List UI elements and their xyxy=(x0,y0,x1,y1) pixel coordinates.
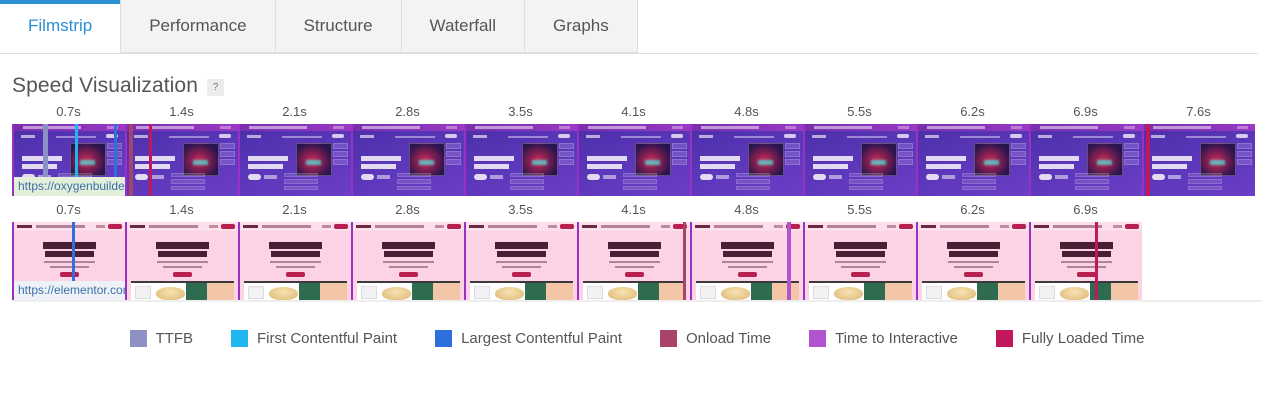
timeline-label: 6.9s xyxy=(1029,202,1142,217)
filmstrip-list: 0.7s1.4s2.1s2.8s3.5s4.1s4.8s5.5s6.2s6.9s… xyxy=(0,98,1274,300)
filmstrip-url-label[interactable]: https://elementor.com/ xyxy=(14,281,125,300)
metric-marker-onload xyxy=(683,222,686,300)
legend-item: TTFB xyxy=(130,330,194,347)
thumbnail-oxygenbuilder xyxy=(1031,124,1142,196)
legend-item: Onload Time xyxy=(660,330,771,347)
legend-label: Largest Contentful Paint xyxy=(461,330,622,347)
thumbnail-elementor xyxy=(805,222,916,300)
filmstrip-frame[interactable] xyxy=(916,222,1029,300)
timeline-label: 6.2s xyxy=(916,202,1029,217)
timeline-label: 1.4s xyxy=(125,104,238,119)
filmstrip-frame[interactable] xyxy=(238,124,351,196)
filmstrip-frame[interactable] xyxy=(125,222,238,300)
timeline-label: 2.8s xyxy=(351,104,464,119)
timeline-label: 4.8s xyxy=(690,104,803,119)
timeline-label: 6.2s xyxy=(916,104,1029,119)
legend-item: Largest Contentful Paint xyxy=(435,330,622,347)
timeline-label: 2.1s xyxy=(238,104,351,119)
thumbnail-oxygenbuilder xyxy=(692,124,803,196)
thumbnail-elementor xyxy=(579,222,690,300)
legend-label: Onload Time xyxy=(686,330,771,347)
tab-graphs[interactable]: Graphs xyxy=(525,0,638,53)
thumbnail-oxygenbuilder xyxy=(353,124,464,196)
filmstrip-frame[interactable] xyxy=(803,222,916,300)
thumbnail-oxygenbuilder xyxy=(127,124,238,196)
timeline-label: 7.6s xyxy=(1142,104,1255,119)
legend-swatch-fcp xyxy=(231,330,248,347)
legend-swatch-onload xyxy=(660,330,677,347)
timeline-labels: 0.7s1.4s2.1s2.8s3.5s4.1s4.8s5.5s6.2s6.9s… xyxy=(12,98,1274,124)
legend-label: Time to Interactive xyxy=(835,330,958,347)
timeline-label: 4.1s xyxy=(577,104,690,119)
legend-item: Fully Loaded Time xyxy=(996,330,1145,347)
timeline-label: 6.9s xyxy=(1029,104,1142,119)
help-icon[interactable]: ? xyxy=(207,79,224,96)
section-header: Speed Visualization ? xyxy=(0,54,1274,98)
thumbnail-elementor xyxy=(240,222,351,300)
tab-filmstrip-label: Filmstrip xyxy=(28,16,92,36)
tab-waterfall-label: Waterfall xyxy=(430,16,496,36)
thumbnail-oxygenbuilder xyxy=(579,124,690,196)
thumbnail-oxygenbuilder xyxy=(805,124,916,196)
tab-waterfall[interactable]: Waterfall xyxy=(402,0,525,53)
legend-label: Fully Loaded Time xyxy=(1022,330,1145,347)
page-title: Speed Visualization xyxy=(12,74,198,98)
tab-graphs-label: Graphs xyxy=(553,16,609,36)
timeline-label: 4.8s xyxy=(690,202,803,217)
filmstrip-frame[interactable] xyxy=(916,124,1029,196)
tab-performance[interactable]: Performance xyxy=(121,0,275,53)
filmstrip-frame[interactable] xyxy=(690,222,803,300)
filmstrip-frame[interactable]: https://oxygenbuilder... xyxy=(12,124,125,196)
metric-marker-fully-loaded xyxy=(149,124,152,196)
thumbnail-elementor xyxy=(353,222,464,300)
filmstrip-frame[interactable] xyxy=(125,124,238,196)
timeline-labels: 0.7s1.4s2.1s2.8s3.5s4.1s4.8s5.5s6.2s6.9s xyxy=(12,196,1274,222)
filmstrip-frame[interactable] xyxy=(1029,222,1142,300)
timeline-label: 2.1s xyxy=(238,202,351,217)
timeline-label: 1.4s xyxy=(125,202,238,217)
thumbnail-oxygenbuilder xyxy=(1144,124,1255,196)
filmstrip-oxygen: 0.7s1.4s2.1s2.8s3.5s4.1s4.8s5.5s6.2s6.9s… xyxy=(0,98,1274,196)
legend-item: Time to Interactive xyxy=(809,330,958,347)
timeline-label: 3.5s xyxy=(464,104,577,119)
legend-swatch-lcp xyxy=(435,330,452,347)
thumbnail-elementor xyxy=(692,222,803,300)
metric-marker-fully-loaded xyxy=(1146,124,1150,196)
legend-swatch-ttfb xyxy=(130,330,147,347)
metric-marker-fully-loaded xyxy=(1095,222,1098,300)
tab-structure-label: Structure xyxy=(304,16,373,36)
tab-filmstrip[interactable]: Filmstrip xyxy=(0,0,121,53)
legend: TTFBFirst Contentful PaintLargest Conten… xyxy=(0,302,1274,360)
filmstrip-frame[interactable]: https://elementor.com/ xyxy=(12,222,125,300)
thumbnail-oxygenbuilder xyxy=(918,124,1029,196)
legend-item: First Contentful Paint xyxy=(231,330,397,347)
filmstrip-frame[interactable] xyxy=(803,124,916,196)
filmstrip-frames: https://elementor.com/ xyxy=(12,222,1274,300)
legend-label: TTFB xyxy=(156,330,194,347)
filmstrip-frame[interactable] xyxy=(464,124,577,196)
filmstrip-frame[interactable] xyxy=(577,222,690,300)
legend-swatch-tti xyxy=(809,330,826,347)
filmstrip-elementor: 0.7s1.4s2.1s2.8s3.5s4.1s4.8s5.5s6.2s6.9s… xyxy=(0,196,1274,300)
timeline-label: 2.8s xyxy=(351,202,464,217)
filmstrip-frame[interactable] xyxy=(351,222,464,300)
thumbnail-oxygenbuilder xyxy=(240,124,351,196)
filmstrip-frame[interactable] xyxy=(464,222,577,300)
timeline-label: 5.5s xyxy=(803,202,916,217)
tab-bar: Filmstrip Performance Structure Waterfal… xyxy=(0,0,1274,54)
filmstrip-frames: https://oxygenbuilder... xyxy=(12,124,1274,196)
thumbnail-oxygenbuilder xyxy=(466,124,577,196)
timeline-label: 5.5s xyxy=(803,104,916,119)
filmstrip-url-label[interactable]: https://oxygenbuilder... xyxy=(14,177,125,196)
timeline-label: 0.7s xyxy=(12,104,125,119)
filmstrip-frame[interactable] xyxy=(1142,124,1255,196)
filmstrip-frame[interactable] xyxy=(238,222,351,300)
filmstrip-frame[interactable] xyxy=(690,124,803,196)
thumbnail-elementor xyxy=(466,222,577,300)
filmstrip-frame[interactable] xyxy=(351,124,464,196)
thumbnail-elementor xyxy=(918,222,1029,300)
tab-bar-underline xyxy=(0,53,1258,54)
tab-structure[interactable]: Structure xyxy=(276,0,402,53)
timeline-label: 0.7s xyxy=(12,202,125,217)
timeline-label: 3.5s xyxy=(464,202,577,217)
thumbnail-elementor xyxy=(1031,222,1142,300)
legend-label: First Contentful Paint xyxy=(257,330,397,347)
filmstrip-frame[interactable] xyxy=(1029,124,1142,196)
tab-performance-label: Performance xyxy=(149,16,246,36)
thumbnail-elementor xyxy=(127,222,238,300)
timeline-label: 4.1s xyxy=(577,202,690,217)
filmstrip-frame[interactable] xyxy=(577,124,690,196)
legend-swatch-fully-loaded xyxy=(996,330,1013,347)
metric-marker-onload xyxy=(129,124,133,196)
metric-marker-tti xyxy=(787,222,791,300)
